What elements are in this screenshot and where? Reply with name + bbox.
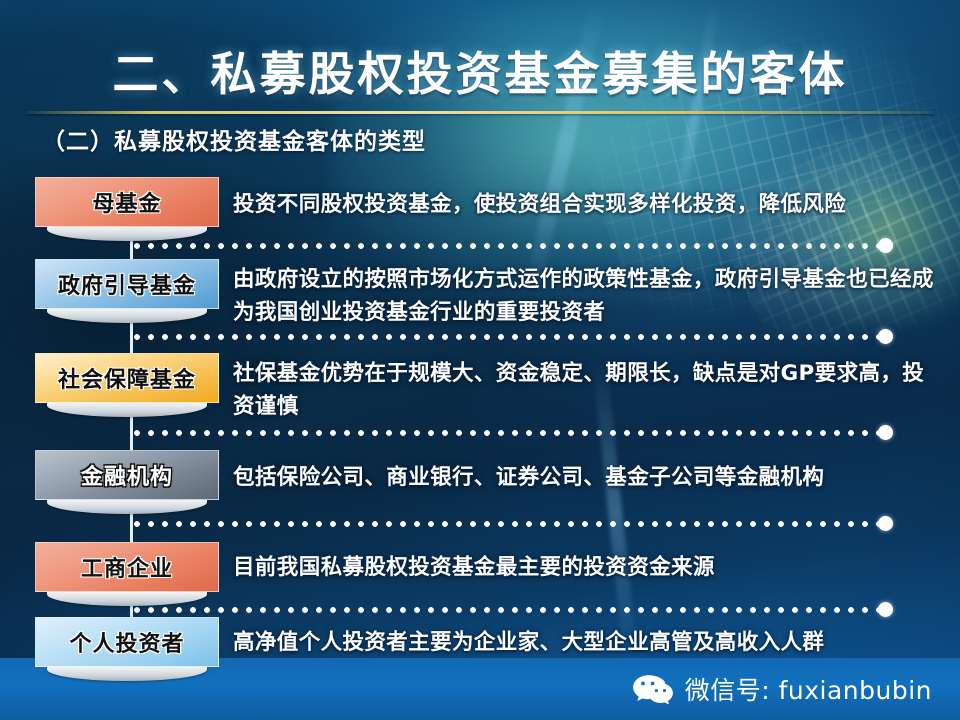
flow-chip-2[interactable]: 政府引导基金 [35,259,219,309]
flow-description: 投资不同股权投资基金，使投资组合实现多样化投资，降低风险 [233,188,943,221]
flow-description: 由政府设立的按照市场化方式运作的政策性基金，政府引导基金也已经成为我国创业投资基… [233,263,943,329]
flow-chip-6[interactable]: 个人投资者 [35,617,219,667]
presentation-slide: 二、私募股权投资基金募集的客体 （二）私募股权投资基金客体的类型 母基金 投资不… [0,0,960,720]
flow-chip-label: 社会保障基金 [58,362,196,394]
flow-description: 高净值个人投资者主要为企业家、大型企业高管及高收入人群 [233,626,943,659]
flow-dot-endcap [878,602,893,617]
page-title: 二、私募股权投资基金募集的客体 [0,38,960,104]
flow-dot-endcap [878,516,893,531]
flow-description: 目前我国私募股权投资基金最主要的投资资金来源 [233,551,943,584]
flow-dotted-separator [130,334,885,340]
flow-chip-label: 工商企业 [81,551,173,583]
wechat-id-text: 微信号: fuxianbubin [685,671,932,707]
flow-dot-endcap [878,425,893,440]
flow-chip-5[interactable]: 工商企业 [35,542,219,592]
flow-dotted-separator [130,521,885,527]
flow-chip-label: 金融机构 [81,459,173,491]
flow-chip-3[interactable]: 社会保障基金 [35,353,219,403]
flow-dot-endcap [878,329,893,344]
flow-chip-label: 个人投资者 [69,626,184,658]
flow-dotted-separator [130,430,885,436]
flow-dotted-separator [130,607,885,613]
flow-chip-1[interactable]: 母基金 [35,177,219,227]
flow-dotted-separator [130,243,885,249]
flow-chip-label: 母基金 [92,186,161,218]
flow-chip-4[interactable]: 金融机构 [35,450,219,500]
page-subtitle: （二）私募股权投资基金客体的类型 [42,122,426,156]
title-divider [26,111,934,114]
flow-chip-label: 政府引导基金 [58,268,196,300]
flow-description: 包括保险公司、商业银行、证券公司、基金子公司等金融机构 [233,461,943,494]
flow-dot-endcap [878,238,893,253]
wechat-icon [632,674,674,704]
flow-description: 社保基金优势在于规模大、资金稳定、期限长，缺点是对GP要求高，投资谨慎 [233,357,943,423]
wechat-credit: 微信号: fuxianbubin [632,671,932,707]
